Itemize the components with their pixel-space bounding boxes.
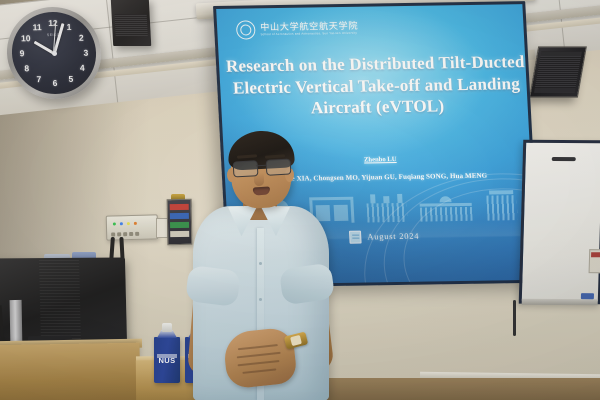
clock-numeral: 9 [20, 48, 25, 58]
glasses-lens [266, 158, 292, 175]
speaker-grill [534, 51, 582, 92]
led-indicator [127, 222, 130, 225]
clock-numeral: 1 [66, 22, 71, 32]
clock-numeral: 2 [79, 33, 84, 43]
carton-label: NUS [154, 356, 180, 365]
clock-center-pin [51, 50, 56, 55]
podium [0, 343, 141, 400]
glasses-bridge [256, 165, 266, 167]
lecture-room-photo: SEIKO 12 1 2 3 4 5 6 7 8 9 10 11 [0, 0, 600, 400]
led-indicator [120, 222, 123, 225]
led-indicator [113, 222, 116, 225]
wall-speaker-right [529, 46, 587, 97]
presenter-person [185, 130, 335, 400]
clock-numeral: 11 [32, 22, 41, 32]
wall-speaker-left [111, 0, 152, 46]
clock-numeral: 6 [53, 78, 58, 88]
presenter-left-sleeve [185, 265, 241, 307]
institution-name-en: School of Aeronautics and Astronautics, … [261, 32, 359, 37]
monitor-vent [39, 260, 81, 342]
university-seal-icon [236, 20, 256, 39]
led-indicator [134, 222, 137, 225]
university-logo: 中山大学航空航天学院 School of Aeronautics and Ast… [236, 19, 359, 40]
speaker-grill [115, 14, 148, 36]
carton-cap [162, 323, 172, 332]
clock-numeral: 5 [68, 74, 73, 84]
clock-numeral: 8 [24, 63, 29, 73]
clock-face: SEIKO 12 1 2 3 4 5 6 7 8 9 10 11 [11, 12, 98, 95]
clock-numeral: 10 [21, 33, 31, 43]
clock-numeral: 3 [83, 48, 88, 58]
hanging-cable [513, 300, 516, 336]
shirt-button [259, 298, 262, 301]
whiteboard-marker-tray [522, 299, 598, 306]
clock-numeral: 12 [48, 18, 58, 28]
whiteboard-handle[interactable] [552, 157, 576, 161]
control-button-row[interactable] [111, 232, 139, 237]
presenter-nose [254, 173, 265, 187]
wall-notice [589, 249, 600, 273]
watch-face [290, 335, 302, 346]
calendar-icon [349, 231, 362, 244]
slide-title: Research on the Distributed Tilt-Ducted … [225, 51, 529, 120]
clock-numeral: 7 [36, 74, 41, 84]
whiteboard [519, 140, 600, 305]
shirt-button [259, 262, 262, 265]
whiteboard-marker[interactable] [581, 293, 594, 299]
clock-numeral: 4 [80, 62, 85, 72]
